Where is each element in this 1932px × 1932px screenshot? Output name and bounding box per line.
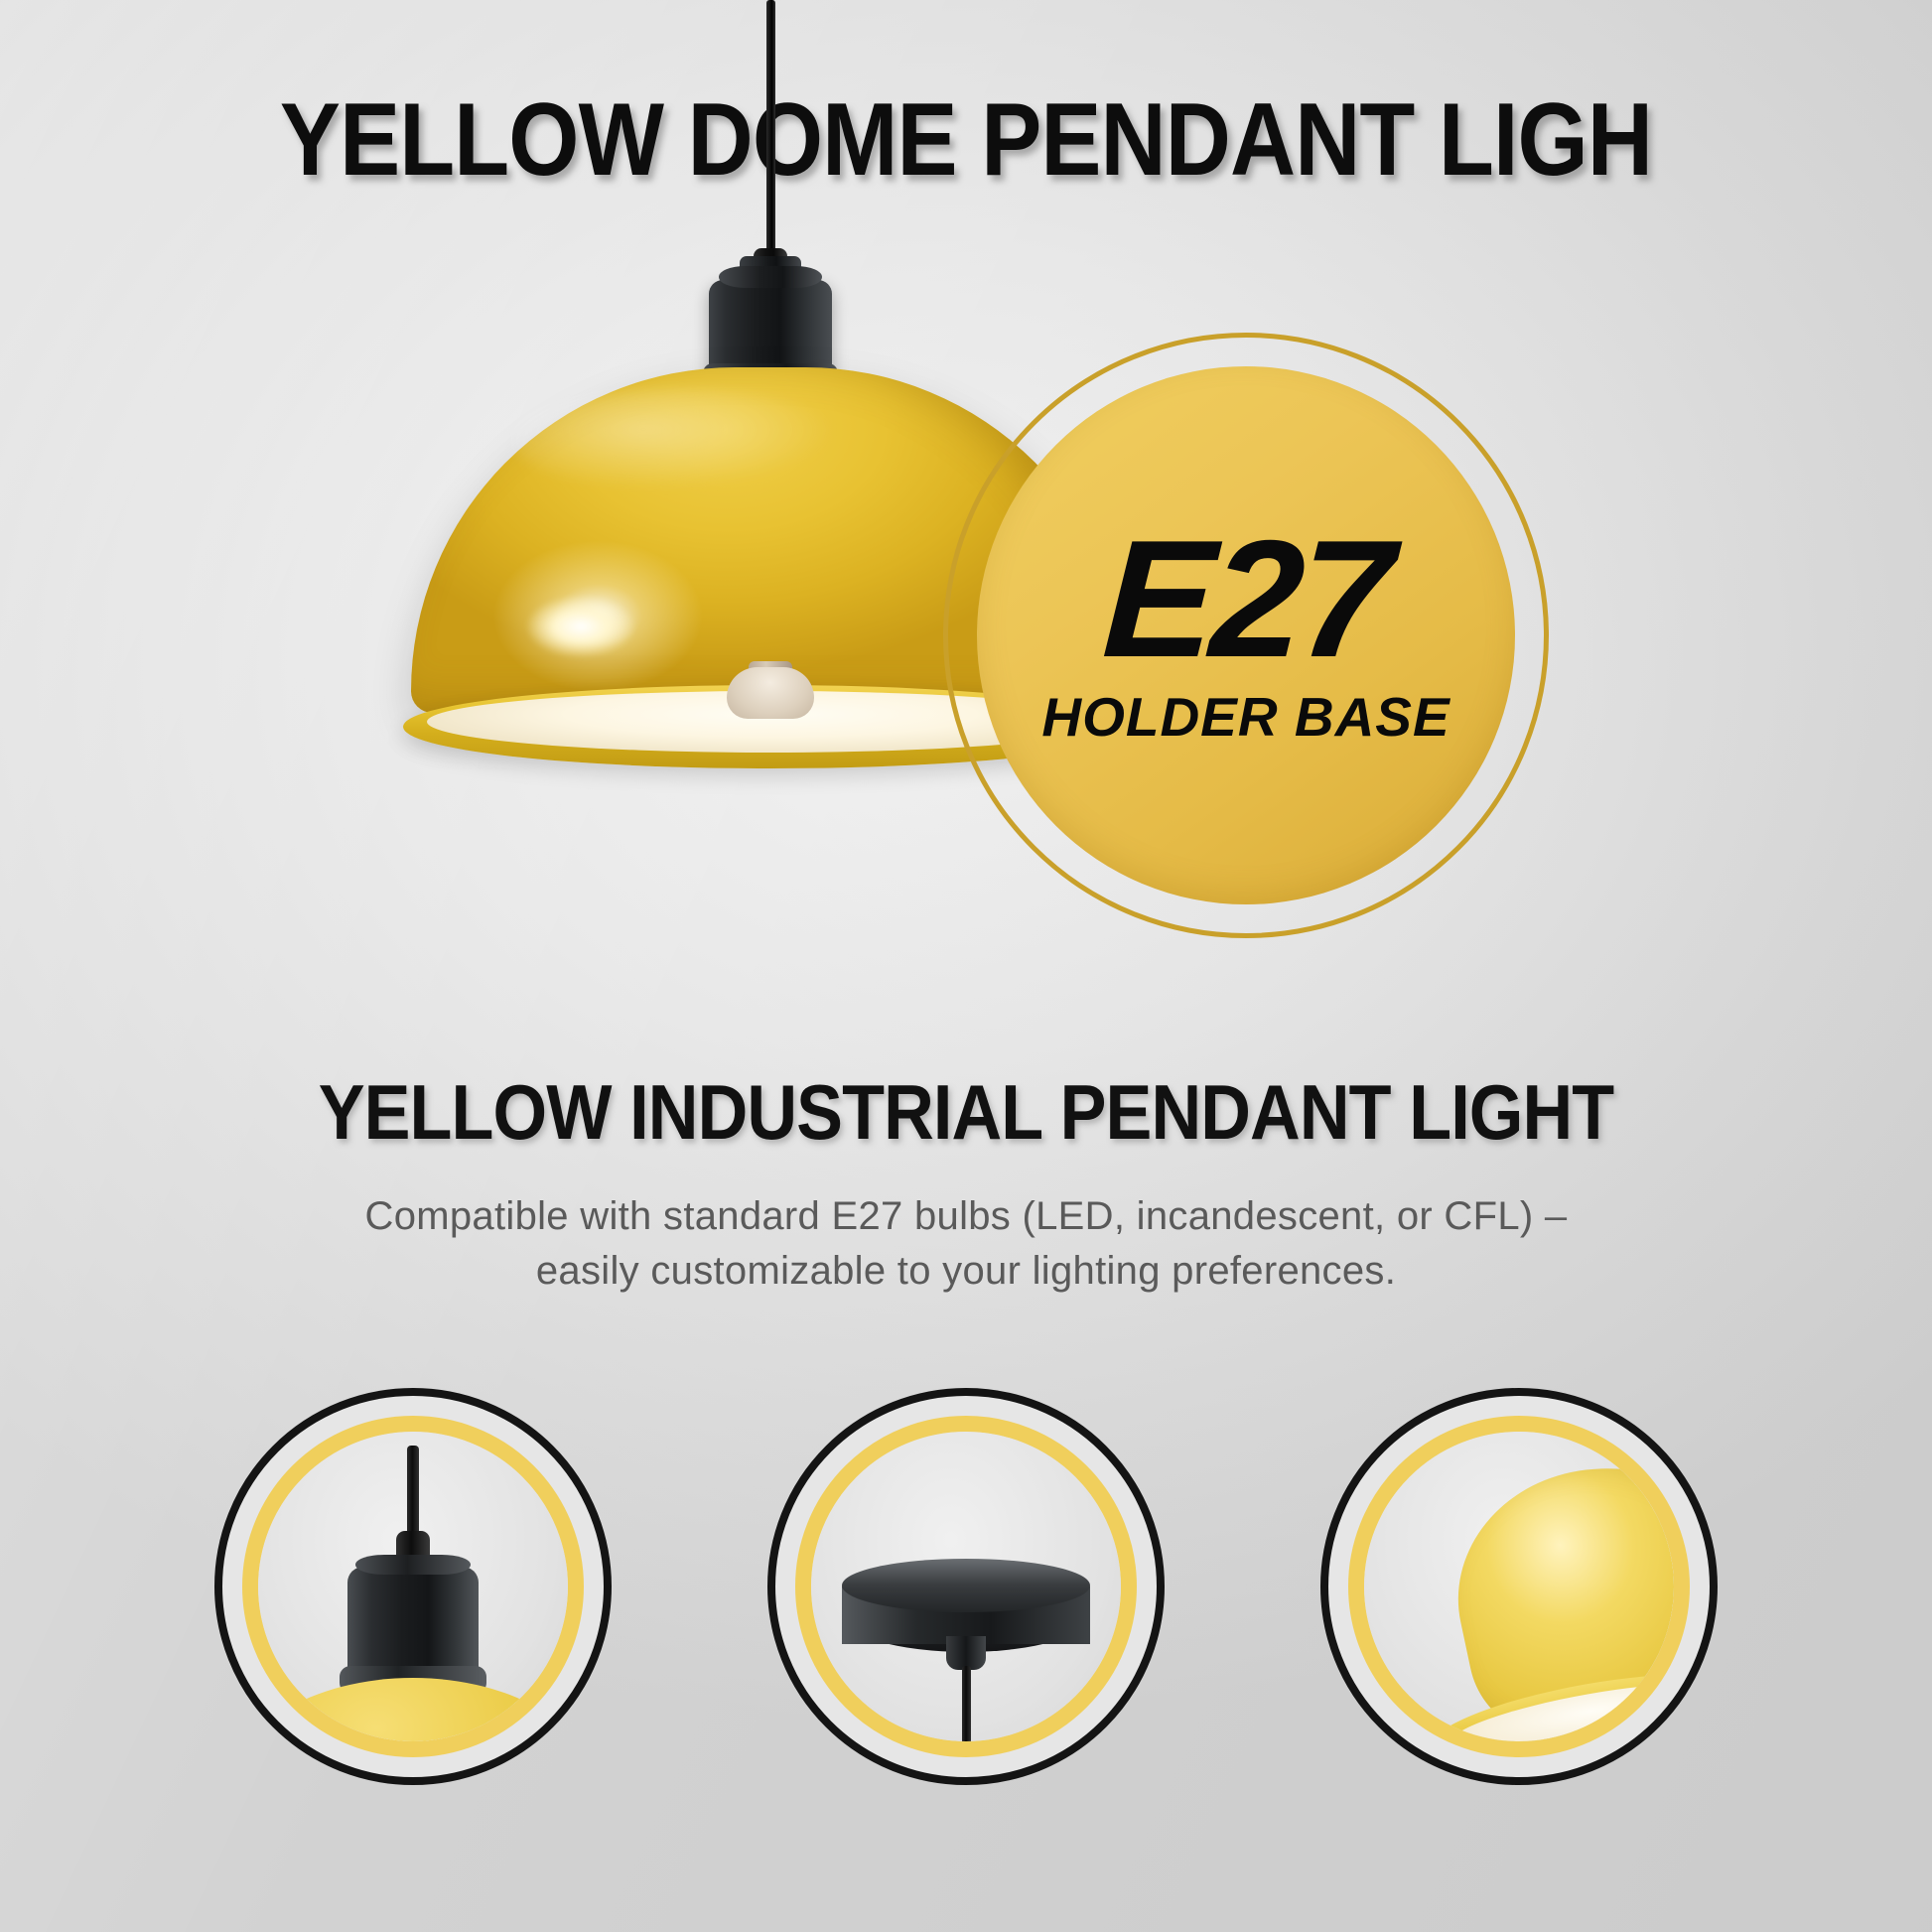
canopy-wire-icon	[962, 1666, 971, 1741]
socket-icon	[347, 1567, 479, 1686]
badge-disc: E27 HOLDER BASE	[977, 366, 1515, 904]
e27-holder-badge: E27 HOLDER BASE	[943, 333, 1549, 938]
thumbnail-lamp-socket[interactable]	[214, 1388, 612, 1785]
shade-specular-highlight	[526, 596, 635, 657]
detail-thumbnail-row	[0, 1388, 1932, 1785]
product-description: Compatible with standard E27 bulbs (LED,…	[0, 1189, 1932, 1299]
product-heading: YELLOW INDUSTRIAL PENDANT LIGHT	[96, 1067, 1835, 1158]
thumbnail-ceiling-canopy[interactable]	[767, 1388, 1165, 1785]
shade-top-icon	[258, 1678, 568, 1741]
ceiling-canopy-detail-icon	[811, 1432, 1121, 1741]
shade-angle-detail-icon	[1364, 1432, 1674, 1741]
badge-code-label: E27	[1099, 522, 1392, 676]
cord-icon	[407, 1446, 419, 1541]
thumbnail-shade-angle[interactable]	[1320, 1388, 1718, 1785]
description-line-2: easily customizable to your lighting pre…	[0, 1244, 1932, 1299]
canopy-plate-top	[842, 1559, 1090, 1612]
badge-caption-label: HOLDER BASE	[1041, 685, 1449, 749]
thumbnail-yellow-ring	[795, 1416, 1137, 1757]
shade-gloss-highlight	[511, 388, 842, 491]
thumbnail-yellow-ring	[242, 1416, 584, 1757]
lamp-cord-icon	[766, 0, 775, 262]
canopy-cable-nub	[946, 1636, 986, 1670]
light-bulb-icon	[727, 667, 814, 719]
lamp-socket-detail-icon	[258, 1432, 568, 1741]
description-line-1: Compatible with standard E27 bulbs (LED,…	[0, 1189, 1932, 1244]
thumbnail-yellow-ring	[1348, 1416, 1690, 1757]
